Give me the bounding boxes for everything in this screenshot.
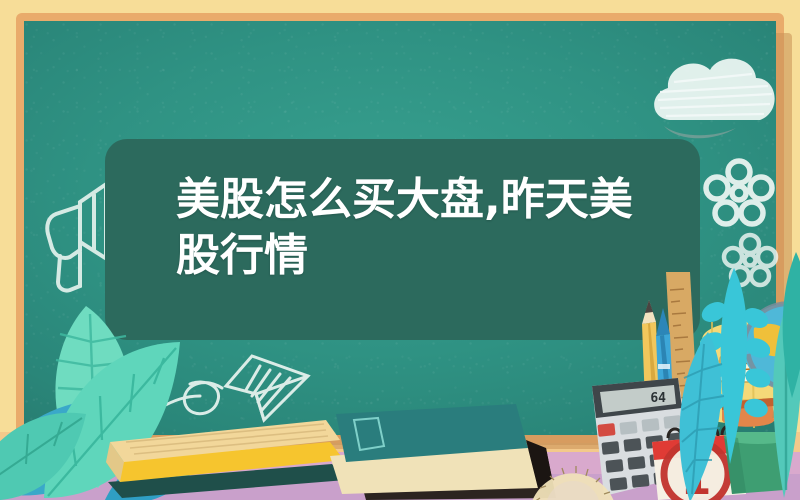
illustration-canvas: 美股怎么买大盘,昨天美股行情 xyxy=(0,0,800,500)
leaf-icon xyxy=(0,400,90,500)
leaf-icon xyxy=(660,330,750,500)
stacked-books xyxy=(320,404,560,500)
stacked-books xyxy=(100,398,350,500)
protractor-icon xyxy=(528,450,618,500)
leaf-icon xyxy=(770,250,800,400)
page-title: 美股怎么买大盘,昨天美股行情 xyxy=(176,172,646,284)
